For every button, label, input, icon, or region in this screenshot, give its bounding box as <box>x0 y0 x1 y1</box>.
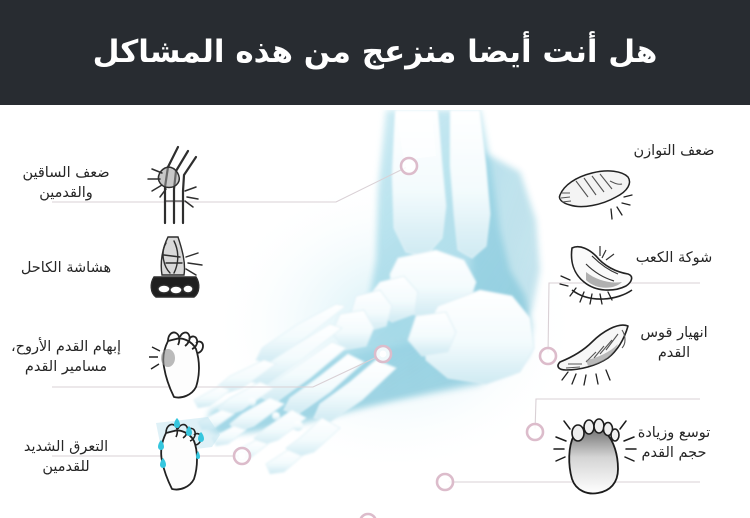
label-ankle-fragility: هشاشة الكاحل <box>0 258 132 278</box>
page-title: هل أنت أيضا منزعج من هذه المشاكل <box>93 34 658 71</box>
heel-spur-icon <box>556 242 638 316</box>
widened-foot-icon <box>552 413 638 497</box>
ankle-anatomy-icon <box>140 233 212 313</box>
sweating-foot-icon <box>138 413 224 495</box>
foot-skeleton-angled-icon <box>554 163 636 229</box>
label-excessive-foot-sweating: التعرق الشديد للقدمين <box>0 437 132 477</box>
flat-arch-foot-icon <box>552 320 640 394</box>
header-banner: هل أنت أيضا منزعج من هذه المشاكل <box>0 0 750 105</box>
content-stage: ضعف الساقين والقدمين هشاشة الكاحل <box>0 105 750 518</box>
label-weak-legs-and-feet: ضعف الساقين والقدمين <box>0 163 132 203</box>
xray-foot-illustration <box>180 110 580 510</box>
bunion-foot-icon <box>138 323 218 403</box>
label-poor-balance: ضعف التوازن <box>608 141 740 161</box>
label-bunion-and-corns: إبهام القدم الأروح، مسامير القدم <box>0 337 132 377</box>
infographic-root: هل أنت أيضا منزعج من هذه المشاكل <box>0 0 750 518</box>
knee-joint-pain-icon <box>138 143 210 231</box>
